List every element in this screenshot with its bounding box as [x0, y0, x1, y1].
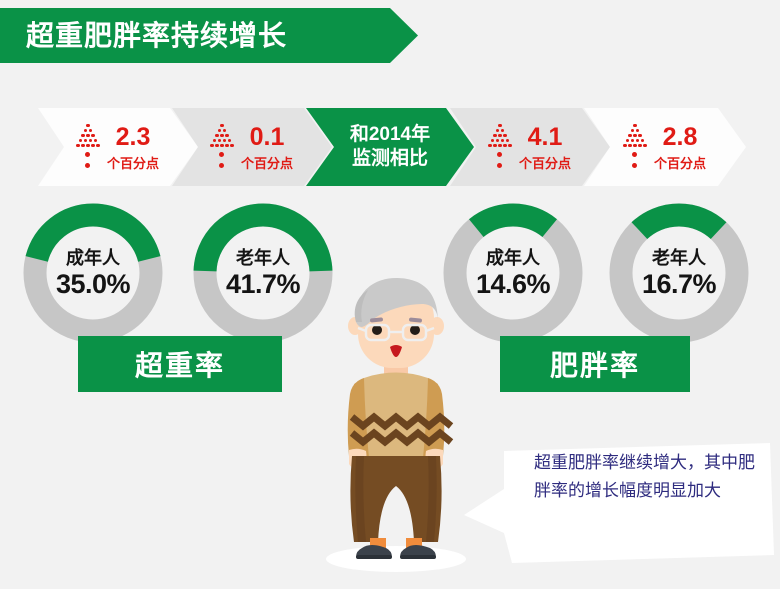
up-arrow-dots-icon: [77, 122, 99, 172]
up-arrow-dots-icon: [624, 122, 646, 172]
change-value: 4.1: [528, 125, 563, 150]
callout-text: 超重肥胖率继续增大，其中肥胖率的增长幅度明显加大: [534, 449, 766, 504]
donut-group-label: 老年人: [652, 249, 706, 267]
donut-group-label: 成年人: [66, 249, 120, 267]
page-title: 超重肥胖率持续增长: [26, 22, 287, 50]
change-unit: 个百分点: [654, 157, 706, 170]
comparison-baseline-line2: 监测相比: [350, 147, 430, 171]
infographic-canvas: 超重肥胖率持续增长 2.3 个百分点 0.1 个百分点: [0, 0, 780, 589]
change-unit: 个百分点: [107, 157, 159, 170]
donut-percent-value: 41.7%: [226, 271, 300, 298]
donut-group-label: 老年人: [236, 249, 290, 267]
comparison-baseline-line1: 和2014年: [350, 123, 430, 147]
change-chevron-3: 4.1 个百分点: [450, 108, 610, 186]
change-value: 2.3: [116, 125, 151, 150]
donut-percent-value: 14.6%: [476, 271, 550, 298]
change-unit: 个百分点: [241, 157, 293, 170]
category-banner-obesity: 肥胖率: [500, 336, 690, 392]
change-unit: 个百分点: [519, 157, 571, 170]
change-value: 2.8: [663, 125, 698, 150]
donut-group-label: 成年人: [486, 249, 540, 267]
category-label: 肥胖率: [550, 344, 640, 384]
title-banner: 超重肥胖率持续增长: [0, 8, 418, 63]
up-arrow-dots-icon: [489, 122, 511, 172]
category-label: 超重率: [135, 344, 225, 384]
donut-chart-overweight-adult: 成年人 35.0%: [18, 198, 168, 348]
elderly-man-illustration: [318, 278, 474, 578]
donut-percent-value: 16.7%: [642, 271, 716, 298]
category-banner-overweight: 超重率: [78, 336, 282, 392]
donut-percent-value: 35.0%: [56, 271, 130, 298]
comparison-baseline-label: 和2014年 监测相比: [350, 123, 430, 172]
donut-chart-overweight-elderly: 老年人 41.7%: [188, 198, 338, 348]
change-value: 0.1: [250, 125, 285, 150]
up-arrow-dots-icon: [211, 122, 233, 172]
change-chevron-1: 2.3 个百分点: [38, 108, 198, 186]
comparison-strip: 2.3 个百分点 0.1 个百分点 和2014年 监测相比: [0, 108, 780, 186]
donut-chart-obesity-elderly: 老年人 16.7%: [604, 198, 754, 348]
